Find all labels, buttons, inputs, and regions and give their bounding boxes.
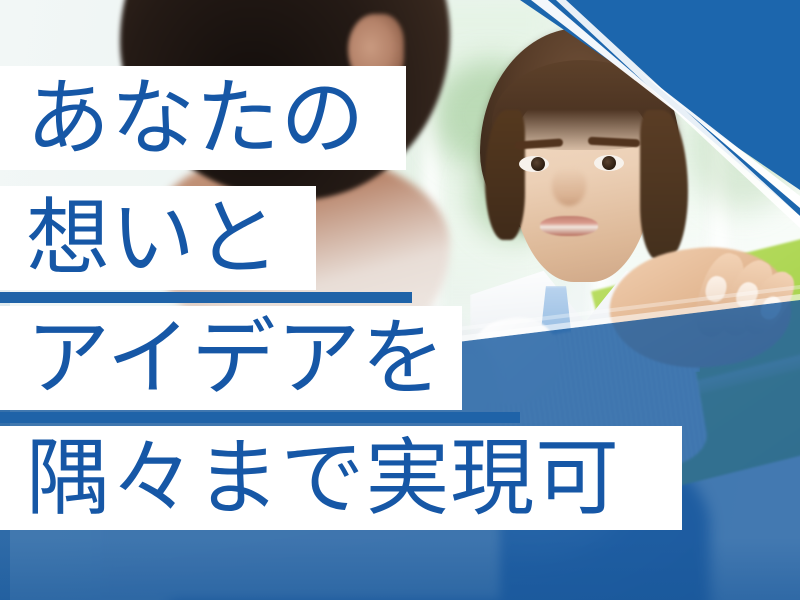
headline-separator <box>0 292 412 303</box>
headline-line-4: 隅々まで実現可 <box>0 426 682 530</box>
headline-line-3-text: アイデアを <box>26 316 446 400</box>
banner-image: あなたの 想いと アイデアを 隅々まで実現可 <box>0 0 800 600</box>
headline-line-3: アイデアを <box>0 306 462 410</box>
headline-line-2: 想いと <box>0 186 316 290</box>
headline-line-4-text: 隅々まで実現可 <box>26 436 620 520</box>
headline-separator <box>0 412 520 423</box>
headline-line-2-text: 想いと <box>26 196 281 280</box>
headline-group: あなたの 想いと アイデアを 隅々まで実現可 <box>0 0 800 600</box>
headline-line-1-text: あなたの <box>26 76 365 160</box>
headline-line-1: あなたの <box>0 66 406 170</box>
